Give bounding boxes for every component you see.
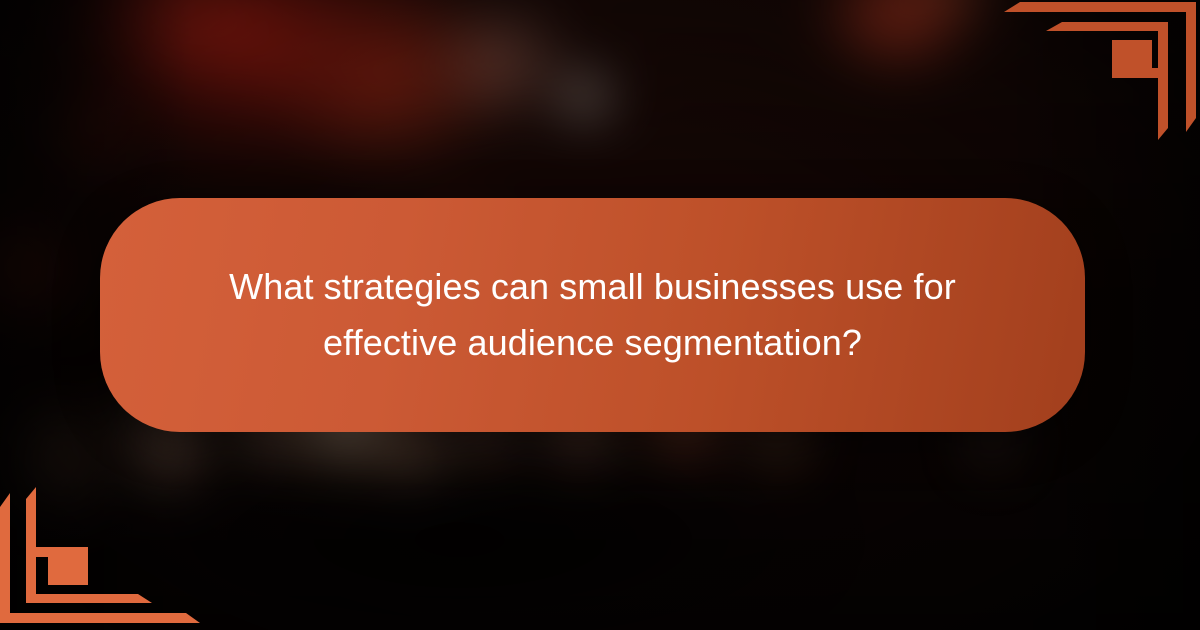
art-deco-corner-top-right (990, 0, 1200, 145)
question-card: What strategies can small businesses use… (100, 198, 1085, 432)
corner-ornament-bottom-left-icon (0, 485, 210, 625)
art-deco-corner-bottom-left (0, 485, 210, 630)
corner-ornament-top-right-icon (990, 0, 1200, 140)
question-text: What strategies can small businesses use… (198, 259, 988, 371)
social-card-canvas: What strategies can small businesses use… (0, 0, 1200, 630)
